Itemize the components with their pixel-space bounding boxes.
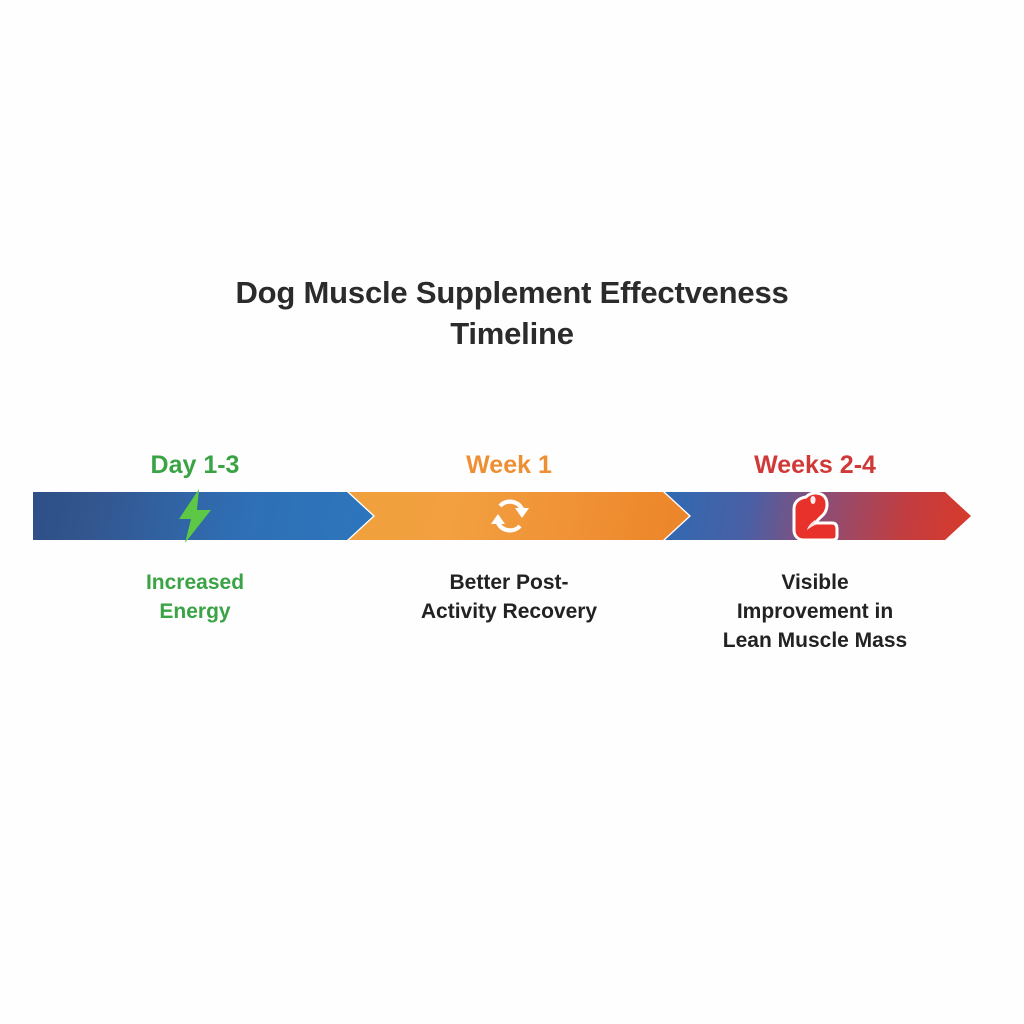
stage-description-3-line-3: Lean Muscle Mass — [685, 626, 945, 655]
refresh-cycle-icon — [479, 485, 541, 547]
infographic-canvas: Dog Muscle Supplement Effectveness Timel… — [0, 0, 1024, 1024]
stage-description-1: Increased Energy — [65, 568, 325, 626]
stage-label-2: Week 1 — [379, 450, 639, 480]
title-line-1: Dog Muscle Supplement Effectveness — [162, 272, 862, 313]
page-title: Dog Muscle Supplement Effectveness Timel… — [162, 272, 862, 354]
stage-description-2: Better Post- Activity Recovery — [379, 568, 639, 626]
timeline: Day 1-3 Week 1 Weeks 2-4 — [0, 430, 1024, 670]
stage-description-1-line-1: Increased — [65, 568, 325, 597]
stage-description-2-line-1: Better Post- — [379, 568, 639, 597]
stage-label-1: Day 1-3 — [65, 450, 325, 480]
stage-description-1-line-2: Energy — [65, 597, 325, 626]
stage-description-3: Visible Improvement in Lean Muscle Mass — [685, 568, 945, 655]
stage-label-3: Weeks 2-4 — [685, 450, 945, 480]
title-line-2: Timeline — [162, 313, 862, 354]
flexed-bicep-icon — [784, 485, 846, 547]
stage-description-3-line-2: Improvement in — [685, 597, 945, 626]
lightning-bolt-icon — [164, 485, 226, 547]
stage-description-2-line-2: Activity Recovery — [379, 597, 639, 626]
stage-description-3-line-1: Visible — [685, 568, 945, 597]
